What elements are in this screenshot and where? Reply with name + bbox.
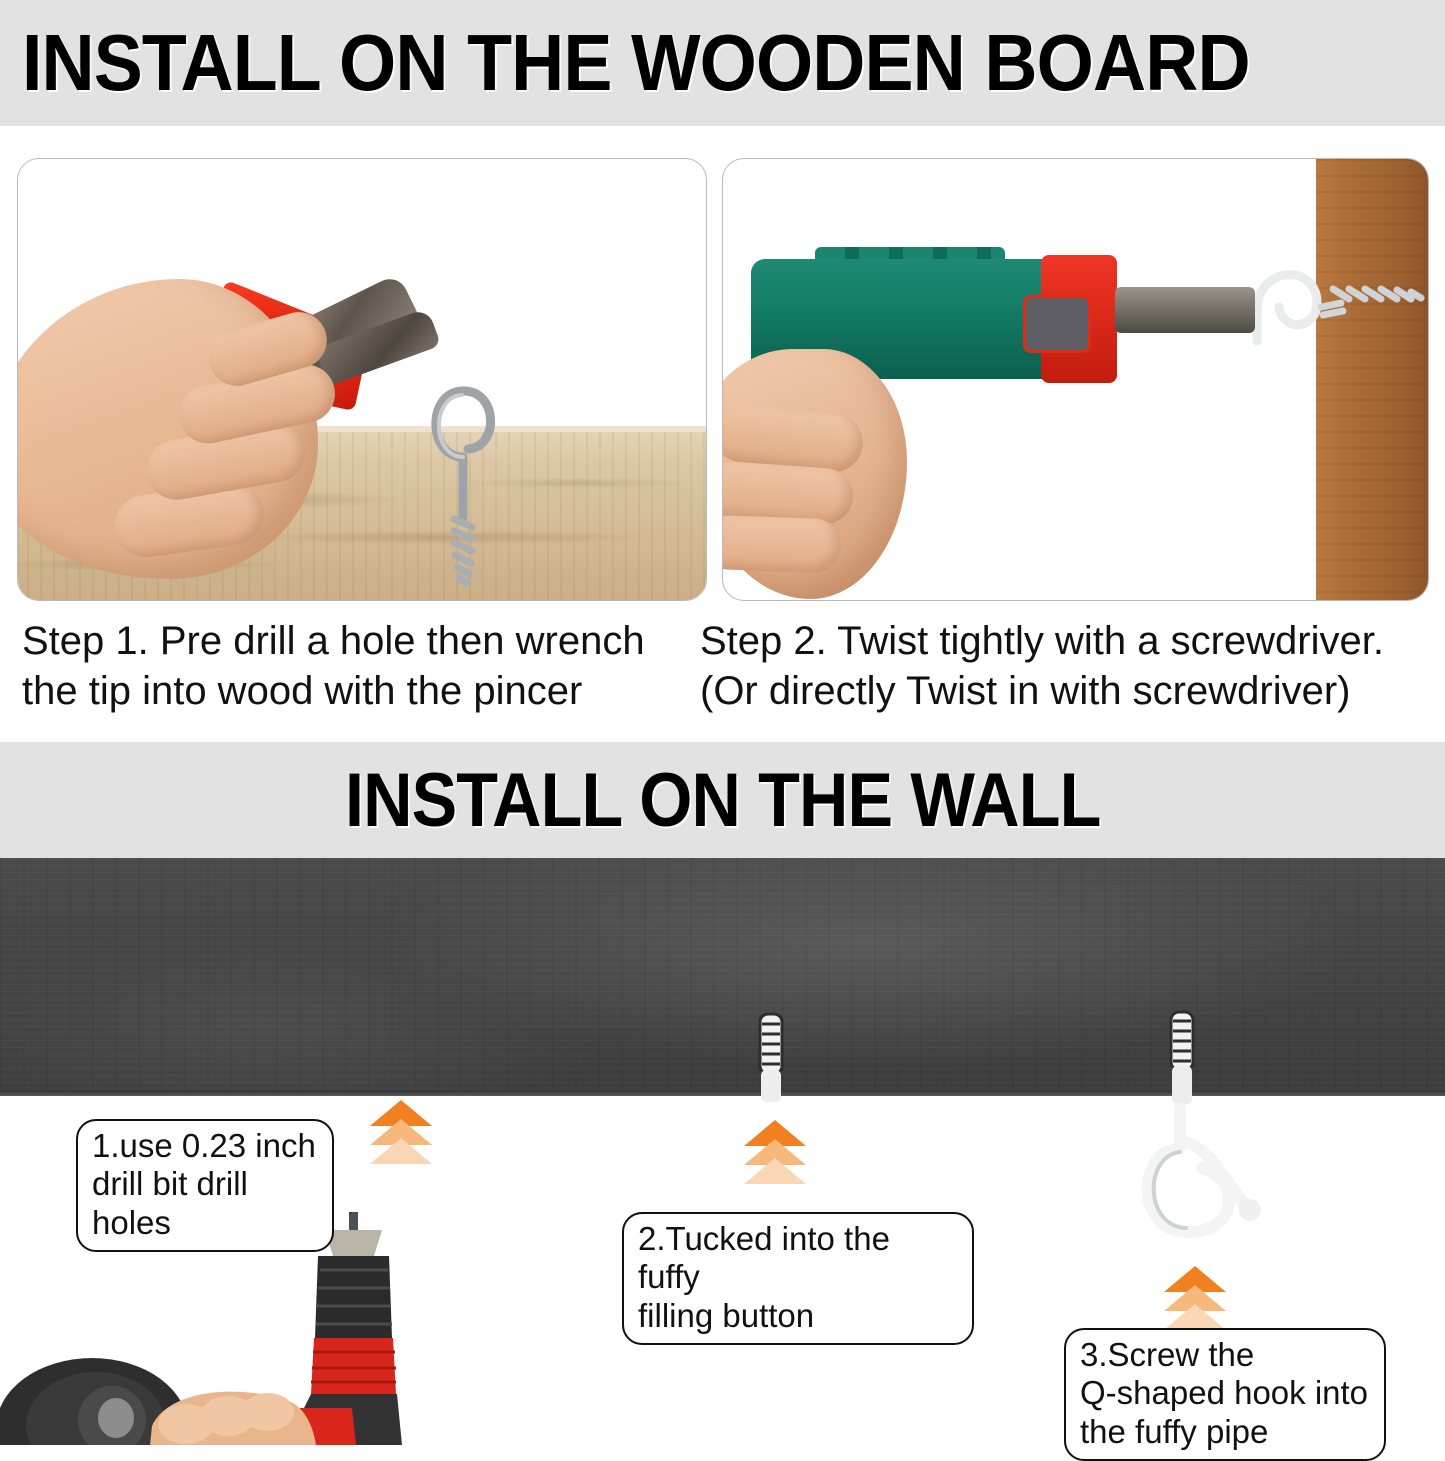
caption-step-2: Step 2. Twist tightly with a screwdriver…	[700, 616, 1430, 717]
q-shaped-hook-icon	[1128, 1090, 1308, 1270]
screwdriver-chuck	[1115, 287, 1255, 333]
section-header-wall: INSTALL ON THE WALL	[0, 742, 1445, 860]
photo-step-2-power-screwdriver	[722, 158, 1429, 601]
chevron-up-group-3	[1164, 1266, 1226, 1330]
photo-step-1-pliers-wooden-board	[17, 158, 707, 601]
direction-switch	[1023, 295, 1091, 353]
callout-step-3: 3.Screw the Q-shaped hook into the fuffy…	[1064, 1328, 1386, 1461]
wall-anchor-plug-icon	[748, 1012, 792, 1104]
q-shaped-hook-in-board-icon	[418, 307, 508, 597]
infographic-page: INSTALL ON THE WOODEN BOARD	[0, 0, 1445, 1445]
chevron-up-group-1	[370, 1100, 432, 1164]
section-header-wooden-board: INSTALL ON THE WOODEN BOARD	[0, 0, 1445, 126]
finger-3	[722, 515, 842, 574]
wooden-post	[1316, 159, 1428, 600]
section-title-wooden-board: INSTALL ON THE WOODEN BOARD	[22, 23, 1250, 103]
caption-step-1: Step 1. Pre drill a hole then wrench the…	[22, 616, 694, 717]
chevron-up-group-2	[744, 1120, 806, 1184]
section-title-wall: INSTALL ON THE WALL	[345, 763, 1101, 839]
chevron-up-icon	[370, 1138, 432, 1164]
callout-step-2: 2.Tucked into the fuffy filling button	[622, 1212, 974, 1345]
callout-step-1: 1.use 0.23 inch drill bit drill holes	[76, 1119, 334, 1252]
concrete-wall	[0, 858, 1445, 1096]
chevron-up-icon	[744, 1158, 806, 1184]
chevron-up-icon	[1164, 1304, 1226, 1330]
screw-thread-icon	[1325, 267, 1429, 327]
